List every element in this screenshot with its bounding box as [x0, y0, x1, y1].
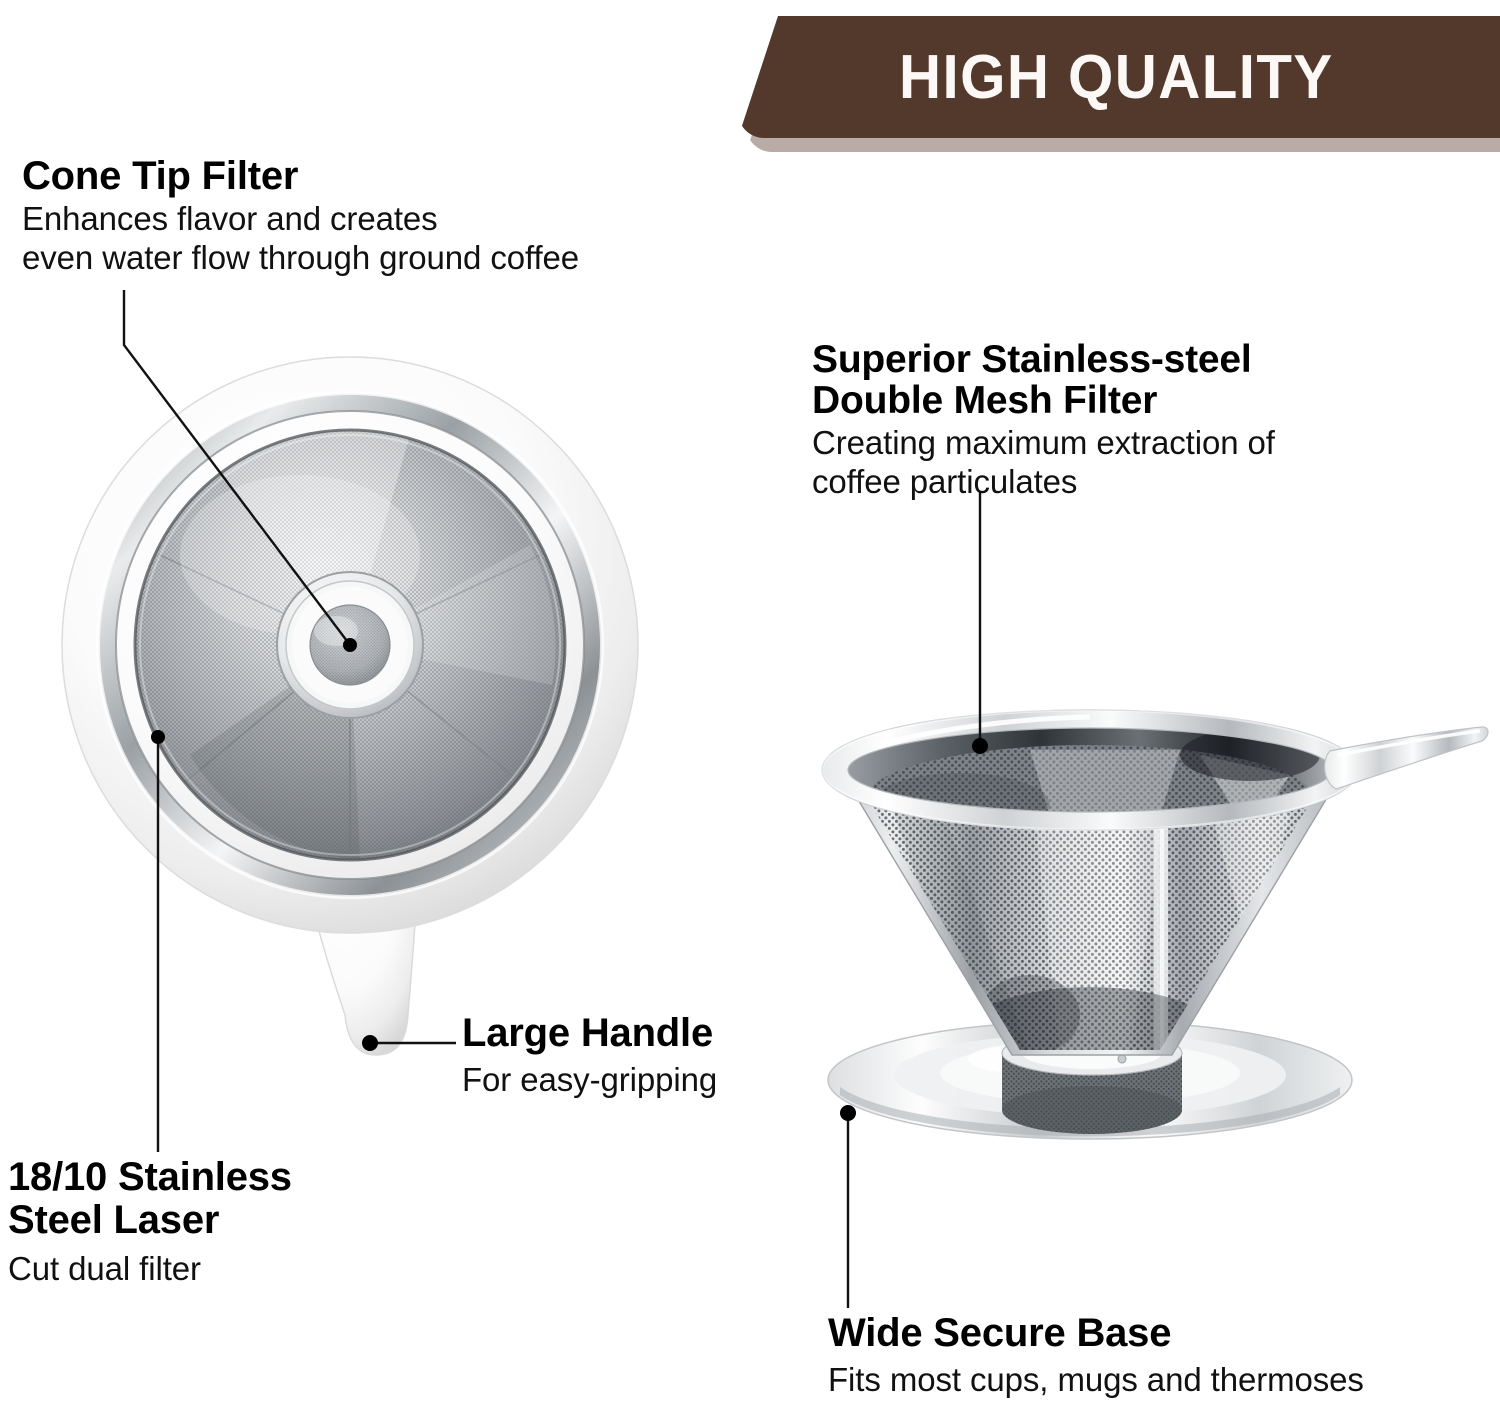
callout-description: Cut dual filter [8, 1250, 438, 1289]
callout-large-handle: Large Handle For easy-gripping [462, 1012, 882, 1100]
product-image-top-view [60, 355, 640, 1065]
callout-stainless-steel-laser: 18/10 Stainless Steel Laser Cut dual fil… [8, 1156, 438, 1289]
callout-description: Creating maximum extraction of coffee pa… [812, 424, 1412, 502]
handle-shape-right [1325, 727, 1488, 789]
high-quality-banner: HIGH QUALITY [738, 8, 1500, 156]
callout-double-mesh-filter: Superior Stainless-steel Double Mesh Fil… [812, 340, 1412, 502]
product-image-cone-view [730, 655, 1490, 1180]
cone-tip-hub [277, 572, 423, 718]
callout-title: 18/10 Stainless Steel Laser [8, 1156, 438, 1242]
callout-title: Cone Tip Filter [22, 155, 722, 198]
callout-description: Enhances flavor and creates even water f… [22, 200, 722, 278]
callout-title: Large Handle [462, 1012, 882, 1055]
callout-description: For easy-gripping [462, 1061, 882, 1100]
banner-label: HIGH QUALITY [899, 42, 1339, 113]
infographic-page: HIGH QUALITY [0, 0, 1500, 1412]
banner-body: HIGH QUALITY [738, 16, 1500, 138]
callout-title: Wide Secure Base [828, 1312, 1468, 1355]
callout-cone-tip-filter: Cone Tip Filter Enhances flavor and crea… [22, 155, 722, 278]
callout-wide-secure-base: Wide Secure Base Fits most cups, mugs an… [828, 1312, 1468, 1400]
callout-description: Fits most cups, mugs and thermoses [828, 1361, 1468, 1400]
callout-title: Superior Stainless-steel Double Mesh Fil… [812, 340, 1412, 422]
